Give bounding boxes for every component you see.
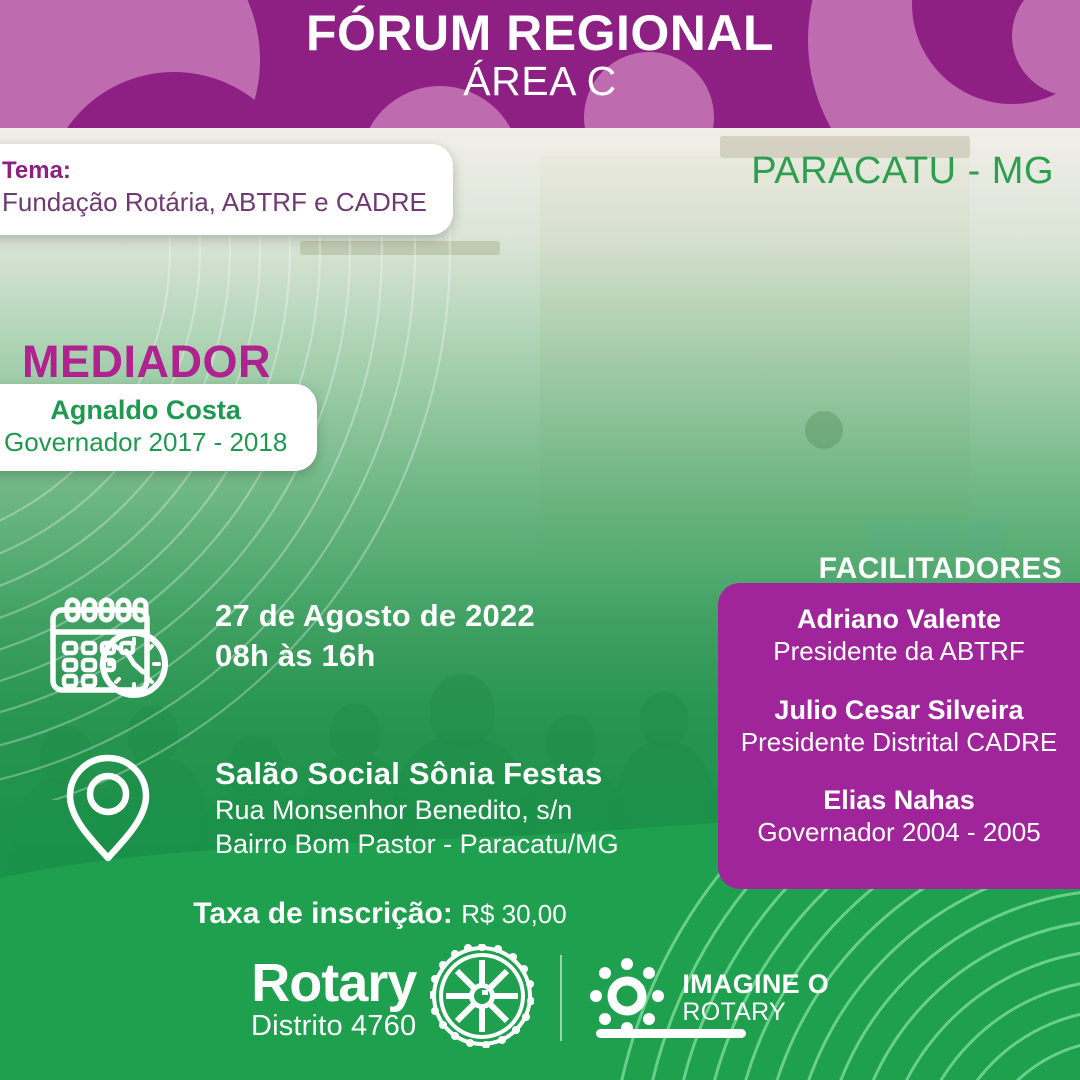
imagine-underline <box>596 1029 746 1038</box>
venue-street: Rua Monsenhor Benedito, s/n <box>215 793 619 827</box>
facilitador-role: Governador 2004 - 2005 <box>718 817 1080 849</box>
imagine-line-2: ROTARY <box>682 999 829 1026</box>
page-subtitle: ÁREA C <box>0 60 1080 103</box>
page-title: FÓRUM REGIONAL <box>0 6 1080 60</box>
facilitador-name: Elias Nahas <box>718 784 1080 817</box>
rotary-word: Rotary <box>251 956 416 1010</box>
header-text-block: FÓRUM REGIONAL ÁREA C <box>0 0 1080 103</box>
fee-label: Taxa de inscrição: <box>193 897 453 930</box>
facilitador-name: Adriano Valente <box>718 603 1080 636</box>
mediador-card: Agnaldo Costa Governador 2017 - 2018 <box>0 384 317 471</box>
date-row: 27 de Agosto de 2022 08h às 16h <box>0 592 700 700</box>
calendar-clock-icon <box>0 592 215 700</box>
registration-fee: Taxa de inscrição: R$ 30,00 <box>0 896 700 932</box>
facilitadores-heading: FACILITADORES <box>819 552 1062 586</box>
rotary-wheel-icon <box>430 944 534 1053</box>
map-pin-icon <box>0 750 215 866</box>
facilitador-name: Julio Cesar Silveira <box>718 694 1080 727</box>
rotary-district: Distrito 4760 <box>251 1012 416 1041</box>
venue-name: Salão Social Sônia Festas <box>215 754 619 793</box>
mediador-role: Governador 2017 - 2018 <box>4 427 287 459</box>
rotary-lockup: Rotary Distrito 4760 <box>251 944 534 1053</box>
fee-value: R$ 30,00 <box>461 899 567 929</box>
imagine-wordmark: IMAGINE O ROTARY <box>682 970 829 1025</box>
facilitador-item: Adriano Valente Presidente da ABTRF <box>718 603 1080 668</box>
poster-footer: Rotary Distrito 4760 <box>0 938 1080 1058</box>
date-text: 27 de Agosto de 2022 08h às 16h <box>215 592 535 677</box>
facilitador-role: Presidente da ABTRF <box>718 636 1080 668</box>
city-label: PARACATU - MG <box>751 150 1054 193</box>
event-poster: FÓRUM REGIONAL ÁREA C PARACATU - MG Tema… <box>0 0 1080 1080</box>
mediador-name: Agnaldo Costa <box>4 394 287 427</box>
imagine-rotary-lockup: IMAGINE O ROTARY <box>588 957 829 1040</box>
facilitadores-card: Adriano Valente Presidente da ABTRF Juli… <box>718 583 1080 889</box>
poster-header: FÓRUM REGIONAL ÁREA C <box>0 0 1080 128</box>
event-time: 08h às 16h <box>215 636 535 676</box>
facilitador-role: Presidente Distrital CADRE <box>718 727 1080 759</box>
facilitador-item: Elias Nahas Governador 2004 - 2005 <box>718 784 1080 849</box>
footer-divider <box>560 955 562 1041</box>
imagine-line-1: IMAGINE O <box>682 970 829 999</box>
place-row: Salão Social Sônia Festas Rua Monsenhor … <box>0 750 700 866</box>
event-date: 27 de Agosto de 2022 <box>215 596 535 636</box>
venue-district: Bairro Bom Pastor - Paracatu/MG <box>215 827 619 861</box>
rotary-wordmark: Rotary Distrito 4760 <box>251 956 416 1041</box>
event-details: 27 de Agosto de 2022 08h às 16h Salão So… <box>0 560 700 932</box>
tema-card: Tema: Fundação Rotária, ABTRF e CADRE <box>0 144 453 235</box>
place-text: Salão Social Sônia Festas Rua Monsenhor … <box>215 750 619 861</box>
mediador-heading: MEDIADOR <box>22 336 271 388</box>
facilitador-item: Julio Cesar Silveira Presidente Distrita… <box>718 694 1080 759</box>
imagine-sun-icon <box>588 957 666 1040</box>
tema-value: Fundação Rotária, ABTRF e CADRE <box>2 186 427 219</box>
tema-label: Tema: <box>2 156 427 186</box>
